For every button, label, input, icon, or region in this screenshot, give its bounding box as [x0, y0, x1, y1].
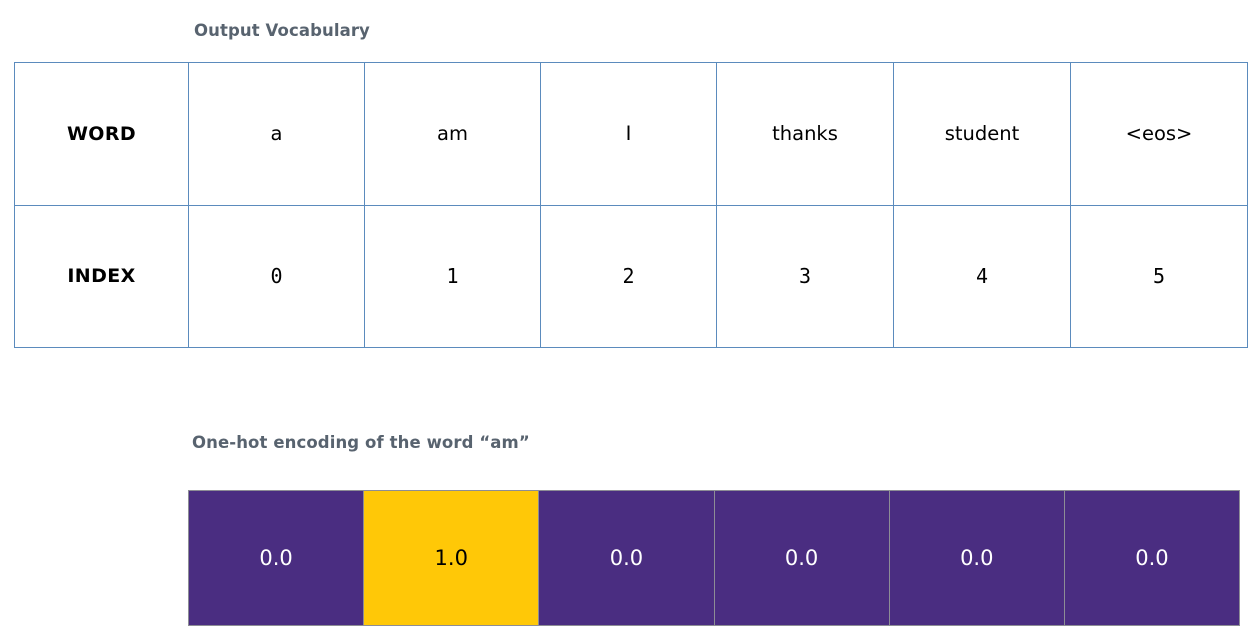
one-hot-cell-1: 1.0	[363, 490, 538, 626]
one-hot-cell-2: 0.0	[538, 490, 713, 626]
table-row-index: INDEX 0 1 2 3 4 5	[15, 205, 1248, 348]
vocab-word-cell-3: thanks	[717, 63, 894, 206]
vocab-index-cell-0: 0	[189, 205, 365, 348]
output-vocabulary-table: WORD a am I thanks student <eos> INDEX 0…	[14, 62, 1248, 348]
vocab-word-cell-2: I	[541, 63, 717, 206]
output-vocabulary-caption: Output Vocabulary	[194, 21, 370, 40]
row-label-word: WORD	[15, 63, 189, 206]
vocab-word-cell-1: am	[365, 63, 541, 206]
vocab-word-cell-0: a	[189, 63, 365, 206]
table-row-word: WORD a am I thanks student <eos>	[15, 63, 1248, 206]
vocab-index-cell-4: 4	[894, 205, 1071, 348]
row-label-index: INDEX	[15, 205, 189, 348]
one-hot-cell-0: 0.0	[188, 490, 363, 626]
one-hot-cell-4: 0.0	[889, 490, 1064, 626]
one-hot-cell-3: 0.0	[714, 490, 889, 626]
vocab-word-cell-4: student	[894, 63, 1071, 206]
vocab-index-cell-1: 1	[365, 205, 541, 348]
vocab-word-cell-5: <eos>	[1071, 63, 1248, 206]
vocab-index-cell-5: 5	[1071, 205, 1248, 348]
vocab-index-cell-2: 2	[541, 205, 717, 348]
one-hot-encoding-caption: One-hot encoding of the word “am”	[192, 433, 530, 452]
vocab-index-cell-3: 3	[717, 205, 894, 348]
one-hot-cell-5: 0.0	[1064, 490, 1240, 626]
one-hot-vector-strip: 0.0 1.0 0.0 0.0 0.0 0.0	[188, 490, 1240, 626]
